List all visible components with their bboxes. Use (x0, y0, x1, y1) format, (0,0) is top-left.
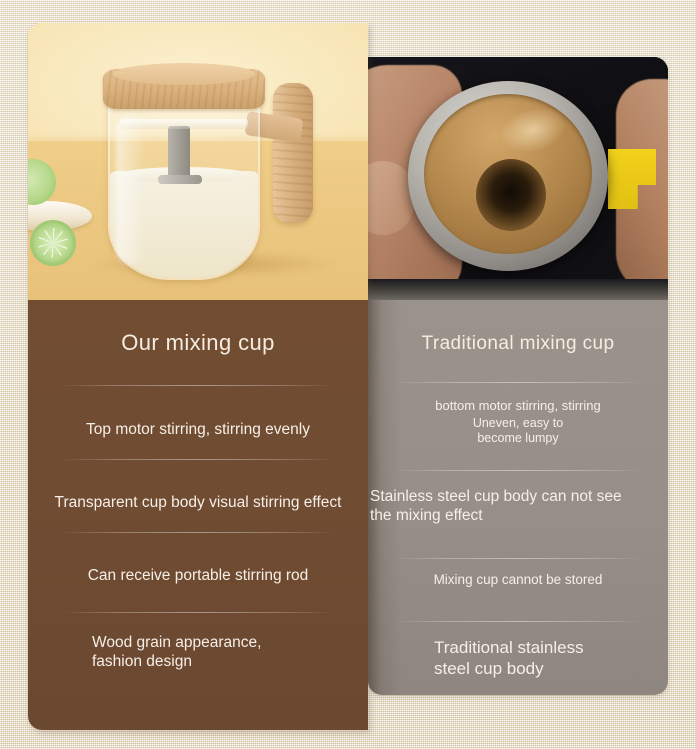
wooden-handle (273, 83, 313, 223)
glass-highlight (116, 115, 144, 265)
traditional-cup-photo (368, 57, 668, 300)
wooden-lid-top (113, 63, 255, 85)
our-cup-text-panel (28, 300, 368, 730)
our-cup-photo (28, 23, 368, 300)
traditional-cup-text-panel (368, 300, 668, 695)
photo-foreground-strip (368, 279, 668, 300)
stirring-blade (158, 175, 202, 184)
coffee-vortex (476, 159, 546, 231)
our-cup-column (28, 23, 368, 730)
lime-slice (30, 220, 76, 266)
traditional-cup-column (368, 57, 668, 695)
